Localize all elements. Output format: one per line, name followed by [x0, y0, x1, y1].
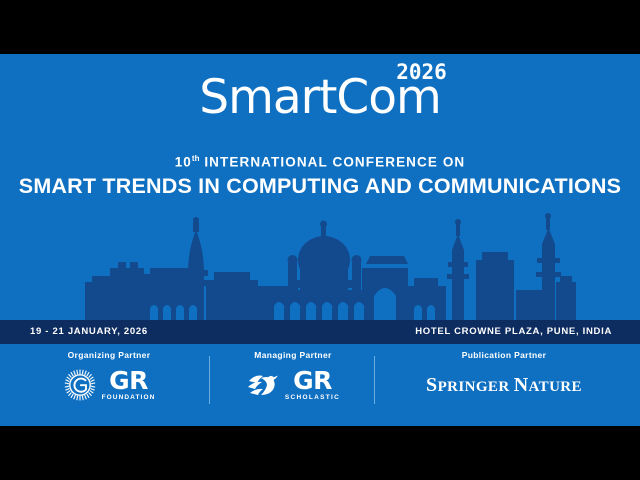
partner-logo-subtitle: FOUNDATION — [102, 395, 156, 402]
letterbox-bar-bottom — [0, 426, 640, 480]
video-frame: SmartCom 2026 10th INTERNATIONAL CONFERE… — [0, 0, 640, 480]
nature-initial: N — [514, 374, 529, 396]
springer-rest: PRINGER — [438, 379, 514, 395]
edition-suffix: th — [192, 154, 200, 163]
conference-venue: HOTEL CROWNE PLAZA, PUNE, INDIA — [415, 320, 612, 344]
partners-section: Organizing Partner — [0, 350, 640, 416]
partner-publication: Publication Partner SPRINGER NATURE — [386, 350, 622, 404]
edition-rest: INTERNATIONAL CONFERENCE ON — [204, 155, 465, 170]
brand-logo: SmartCom 2026 — [0, 72, 640, 124]
partner-managing: Managing Partner — [220, 350, 366, 404]
partner-divider — [209, 356, 210, 404]
partner-label: Managing Partner — [220, 350, 366, 360]
gr-foundation-logo: GR FOUNDATION — [18, 366, 200, 404]
springer-nature-logo: SPRINGER NATURE — [386, 366, 622, 404]
nature-rest: ATURE — [529, 379, 582, 395]
partner-logo-subtitle: SCHOLASTIC — [285, 395, 340, 402]
partner-logo-name: GR — [109, 368, 148, 393]
conference-title: SMART TRENDS IN COMPUTING AND COMMUNICAT… — [0, 174, 640, 199]
gr-scholastic-logo: GR SCHOLASTIC — [220, 366, 366, 404]
city-skyline-illustration — [0, 210, 640, 320]
gr-scholastic-bird-icon — [246, 368, 280, 402]
gr-foundation-sunburst-icon — [63, 368, 97, 402]
conference-dates: 19 - 21 JANUARY, 2026 — [30, 320, 148, 344]
edition-number: 10 — [175, 155, 192, 170]
conference-edition-line: 10th INTERNATIONAL CONFERENCE ON — [0, 154, 640, 170]
springer-initial: S — [426, 374, 438, 396]
partner-divider — [374, 356, 375, 404]
date-venue-band: 19 - 21 JANUARY, 2026 HOTEL CROWNE PLAZA… — [0, 320, 640, 344]
partner-label: Organizing Partner — [18, 350, 200, 360]
brand-logo-year: 2026 — [396, 60, 447, 84]
conference-poster: SmartCom 2026 10th INTERNATIONAL CONFERE… — [0, 54, 640, 426]
partner-label: Publication Partner — [386, 350, 622, 360]
partner-logo-name: GR — [293, 368, 332, 393]
partner-organizing: Organizing Partner — [18, 350, 200, 404]
letterbox-bar-top — [0, 0, 640, 54]
